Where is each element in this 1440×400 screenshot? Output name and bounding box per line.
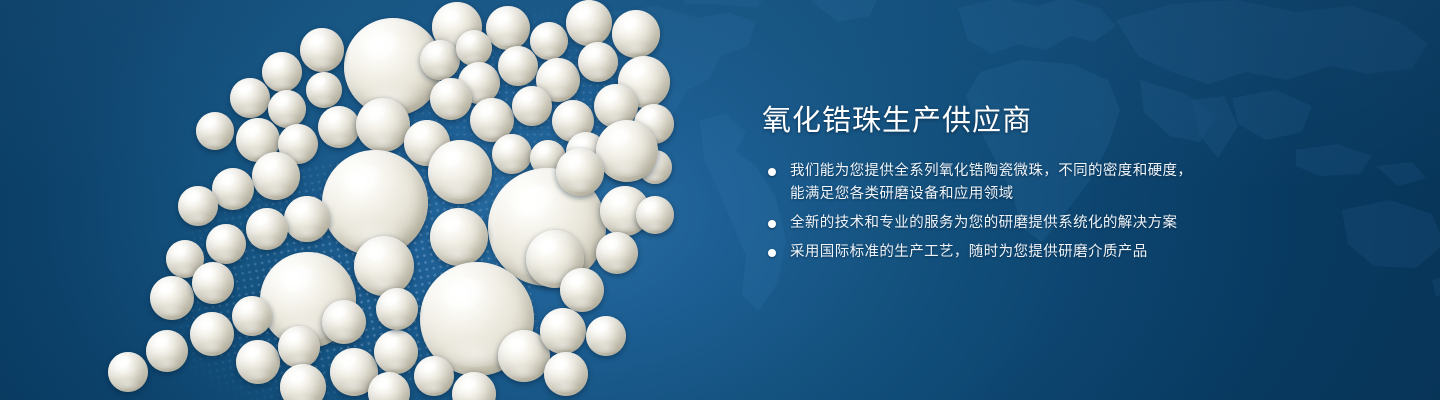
bullet-text-line-2: 能满足您各类研磨设备和应用领域 bbox=[790, 183, 1322, 206]
hero-banner: 氧化锆珠生产供应商 我们能为您提供全系列氧化锆陶瓷微珠，不同的密度和硬度， 能满… bbox=[0, 0, 1440, 400]
page-title: 氧化锆珠生产供应商 bbox=[762, 100, 1322, 140]
feature-list: 我们能为您提供全系列氧化锆陶瓷微珠，不同的密度和硬度， 能满足您各类研磨设备和应… bbox=[762, 160, 1322, 264]
list-item: 采用国际标准的生产工艺，随时为您提供研磨介质产品 bbox=[762, 241, 1322, 264]
bullet-dot-icon bbox=[768, 168, 776, 176]
bullet-text-line-1: 采用国际标准的生产工艺，随时为您提供研磨介质产品 bbox=[790, 244, 1148, 260]
bullet-text-line-1: 我们能为您提供全系列氧化锆陶瓷微珠，不同的密度和硬度， bbox=[790, 163, 1192, 179]
banner-content: 氧化锆珠生产供应商 我们能为您提供全系列氧化锆陶瓷微珠，不同的密度和硬度， 能满… bbox=[762, 100, 1322, 270]
list-item: 全新的技术和专业的服务为您的研磨提供系统化的解决方案 bbox=[762, 212, 1322, 235]
bullet-dot-icon bbox=[768, 220, 776, 228]
bullet-text-line-1: 全新的技术和专业的服务为您的研磨提供系统化的解决方案 bbox=[790, 215, 1177, 231]
list-item: 我们能为您提供全系列氧化锆陶瓷微珠，不同的密度和硬度， 能满足您各类研磨设备和应… bbox=[762, 160, 1322, 206]
bullet-dot-icon bbox=[768, 249, 776, 257]
